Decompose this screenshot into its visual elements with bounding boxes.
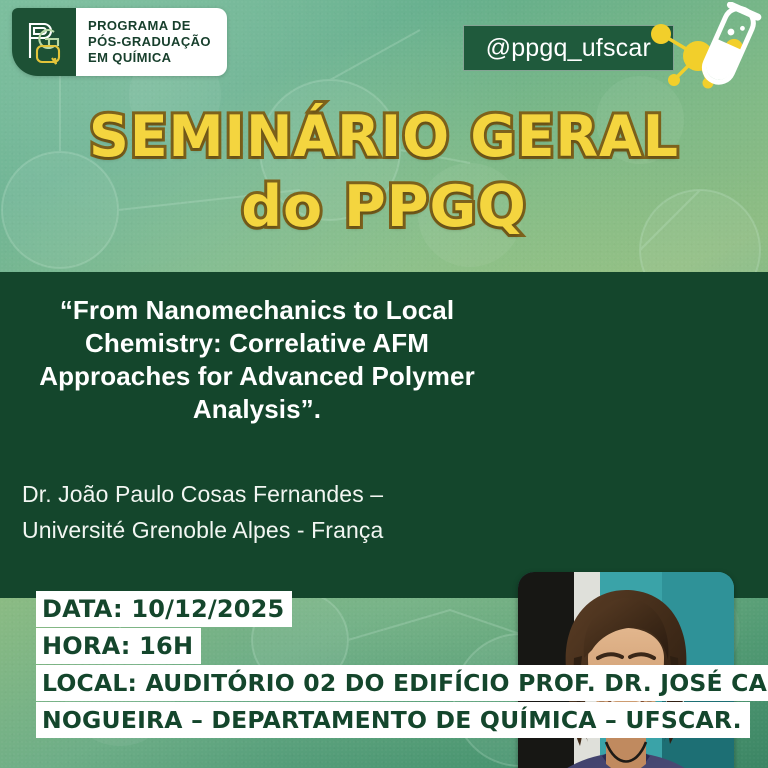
headline-line-1: SEMINÁRIO GERAL	[12, 104, 757, 170]
info-location-line-2: NOGUEIRA – DEPARTAMENTO DE QUÍMICA – UFS…	[36, 702, 750, 738]
page-title: SEMINÁRIO GERAL do PPGQ	[0, 104, 768, 240]
logo-mark-pgq	[12, 8, 76, 76]
info-date: DATA: 10/12/2025	[36, 591, 292, 627]
logo-line-1: PROGRAMA DE	[88, 18, 211, 34]
instagram-handle-bar[interactable]: @ppgq_ufscar	[463, 25, 674, 71]
talk-title: “From Nanomechanics to Local Chemistry: …	[18, 294, 496, 426]
molecule-test-tube-icon	[646, 2, 762, 94]
logo-line-2: PÓS-GRADUAÇÃO	[88, 34, 211, 50]
info-time: HORA: 16H	[36, 628, 201, 664]
logo-text-box: PROGRAMA DE PÓS-GRADUAÇÃO EM QUÍMICA	[76, 8, 227, 76]
logo-line-3: EM QUÍMICA	[88, 50, 211, 66]
info-location-line-1: LOCAL: AUDITÓRIO 02 DO EDIFÍCIO PROF. DR…	[36, 665, 768, 701]
event-info-block: DATA: 10/12/2025 HORA: 16H LOCAL: AUDITÓ…	[36, 591, 768, 738]
speaker-name: Dr. João Paulo Cosas Fernandes –	[22, 476, 500, 512]
ppgq-logo: PROGRAMA DE PÓS-GRADUAÇÃO EM QUÍMICA	[12, 8, 227, 76]
instagram-handle-text: @ppgq_ufscar	[486, 34, 651, 63]
speaker-affiliation: Université Grenoble Alpes - França	[22, 512, 500, 548]
speaker-block: Dr. João Paulo Cosas Fernandes – Univers…	[22, 476, 500, 548]
headline-line-2: do PPGQ	[0, 174, 768, 240]
talk-panel: “From Nanomechanics to Local Chemistry: …	[0, 272, 768, 598]
poster-canvas: PROGRAMA DE PÓS-GRADUAÇÃO EM QUÍMICA @pp…	[0, 0, 768, 768]
pgq-monogram-icon	[21, 18, 67, 66]
